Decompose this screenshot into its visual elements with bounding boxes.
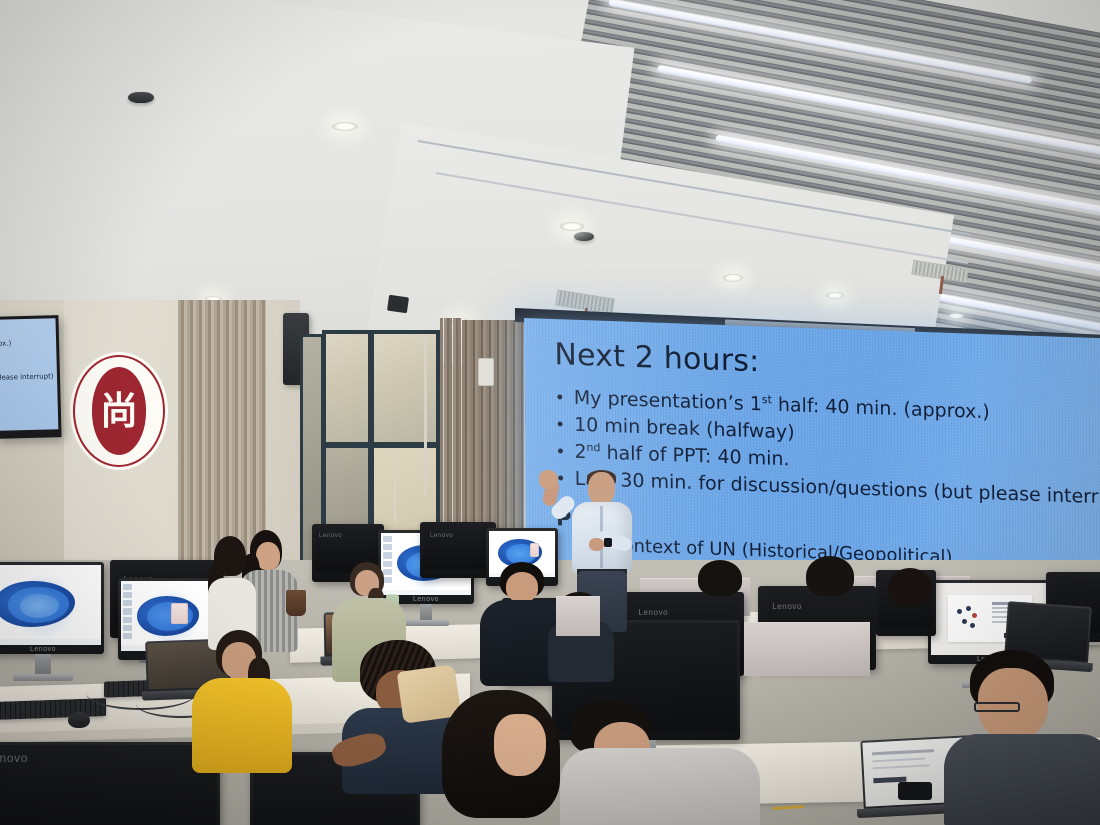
window-blind-cord[interactable] — [424, 336, 427, 496]
recessed-downlight — [723, 274, 743, 282]
desktop-monitor[interactable]: Lenovo — [0, 562, 104, 654]
audience-member — [944, 650, 1100, 825]
audience-member — [800, 556, 860, 606]
recessed-downlight — [560, 222, 584, 231]
wall-control-panel[interactable] — [478, 358, 494, 386]
desk-partition — [556, 596, 600, 636]
window-blind-cord[interactable] — [394, 450, 396, 522]
desktop-monitor[interactable]: Lenovo — [0, 742, 220, 825]
monitor-brand: Lenovo — [772, 602, 802, 611]
drink-cup[interactable] — [286, 590, 306, 616]
monitor-brand: Lenovo — [413, 596, 439, 603]
audience-member — [442, 690, 572, 825]
recessed-downlight — [948, 313, 964, 319]
audience-member — [884, 568, 940, 616]
confidence-monitor[interactable]: ox.) please interrupt) — [0, 315, 62, 439]
monitor-brand: Lenovo — [0, 751, 28, 765]
eyeglasses — [974, 702, 1020, 712]
desktop-icons[interactable] — [123, 584, 133, 639]
smoke-detector-icon — [574, 232, 594, 241]
emblem-glyph: 尚 — [93, 379, 146, 443]
ceiling — [0, 0, 1100, 350]
audience-member — [560, 700, 760, 825]
wrist-watch — [898, 782, 932, 800]
desk-partition — [744, 622, 870, 676]
slide-title: Next 2 hours: — [554, 337, 1100, 392]
sticky-note — [171, 603, 188, 624]
mouse[interactable] — [68, 712, 90, 728]
university-emblem: 尚 山东大学政治学与公共管理学院 School of Political Sci… — [70, 352, 168, 470]
smoke-detector-icon — [128, 92, 154, 103]
monitor-brand: Lenovo — [430, 533, 453, 539]
audience-member — [192, 630, 292, 770]
monitor-brand: Lenovo — [30, 646, 56, 653]
recessed-downlight — [332, 122, 358, 131]
lecture-hall-photo: 尚 山东大学政治学与公共管理学院 School of Political Sci… — [0, 0, 1100, 825]
recessed-downlight — [826, 292, 844, 299]
windows-11-wallpaper — [0, 565, 101, 645]
audience-member — [692, 560, 748, 608]
confidence-monitor-line1: ox.) — [0, 339, 11, 347]
sticky-note — [530, 543, 539, 557]
confidence-monitor-line2: please interrupt) — [0, 372, 54, 382]
projector-mount — [387, 295, 409, 314]
monitor-brand: Lenovo — [319, 533, 342, 539]
